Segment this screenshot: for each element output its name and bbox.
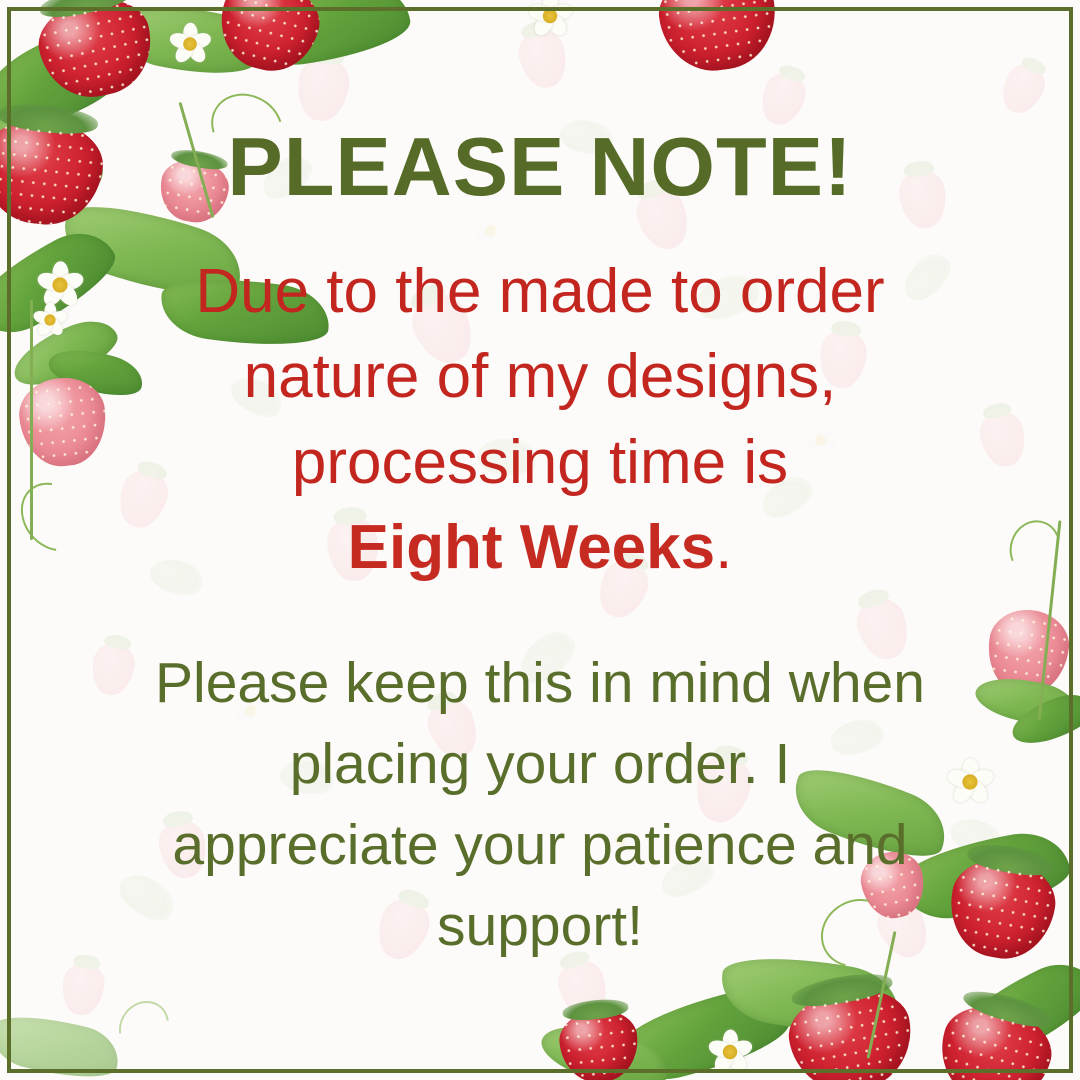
notice-paragraph: Due to the made to order nature of my de… [60, 249, 1020, 591]
notice-line-3: processing time is [60, 420, 1020, 506]
closing-line-3: appreciate your patience and [50, 805, 1030, 886]
closing-line-1: Please keep this in mind when [50, 643, 1030, 724]
closing-paragraph: Please keep this in mind when placing yo… [50, 643, 1030, 967]
notice-period: . [715, 513, 732, 582]
notice-line-2: nature of my designs, [60, 334, 1020, 420]
closing-line-2: placing your order. I [50, 724, 1030, 805]
notice-highlight-line: Eight Weeks. [60, 505, 1020, 591]
poster-text: PLEASE NOTE! Due to the made to order na… [0, 0, 1080, 1080]
page-title: PLEASE NOTE! [227, 128, 852, 207]
processing-time-value: Eight Weeks [348, 513, 716, 582]
poster-canvas: PLEASE NOTE! Due to the made to order na… [0, 0, 1080, 1080]
notice-line-1: Due to the made to order [60, 249, 1020, 335]
closing-line-4: support! [50, 886, 1030, 967]
